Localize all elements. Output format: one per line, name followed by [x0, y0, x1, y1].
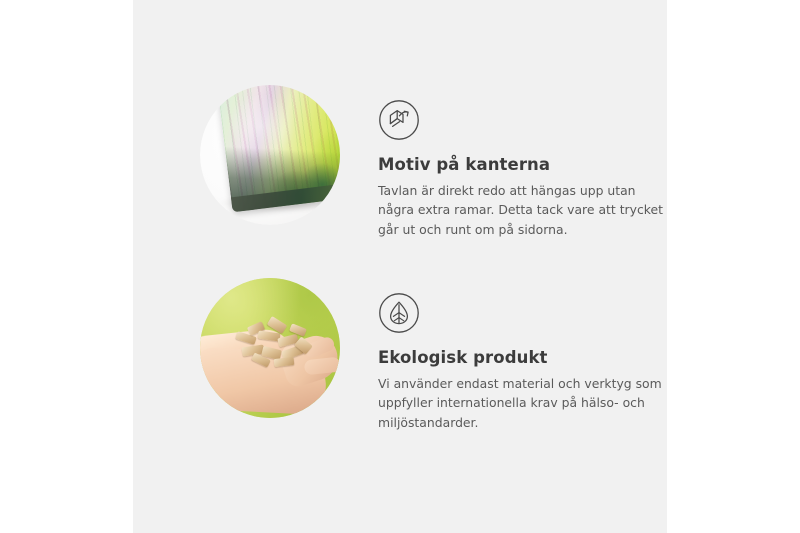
feature-edges-text: Motiv på kanterna Tavlan är direkt redo … — [378, 85, 667, 240]
feature-eco-title: Ekologisk produkt — [378, 348, 667, 368]
wood-chips — [234, 320, 314, 366]
feature-edges-title: Motiv på kanterna — [378, 155, 667, 175]
canvas-wrapped-edge-icon — [378, 99, 420, 141]
leaf-icon — [378, 292, 420, 334]
feature-eco-description: Vi använder endast material och verktyg … — [378, 374, 667, 433]
product-feature-panel: Motiv på kanterna Tavlan är direkt redo … — [0, 0, 800, 533]
feature-edges: Motiv på kanterna Tavlan är direkt redo … — [200, 85, 667, 240]
feature-eco-text: Ekologisk produkt Vi använder endast mat… — [378, 278, 667, 433]
hands-holding-wood-chips-photo — [200, 278, 340, 418]
content-panel: Motiv på kanterna Tavlan är direkt redo … — [133, 0, 667, 533]
feature-edges-description: Tavlan är direkt redo att hängas upp uta… — [378, 181, 667, 240]
feature-eco: Ekologisk produkt Vi använder endast mat… — [200, 278, 667, 433]
canvas-print-corner-photo — [200, 85, 340, 225]
canvas-block — [216, 85, 340, 212]
